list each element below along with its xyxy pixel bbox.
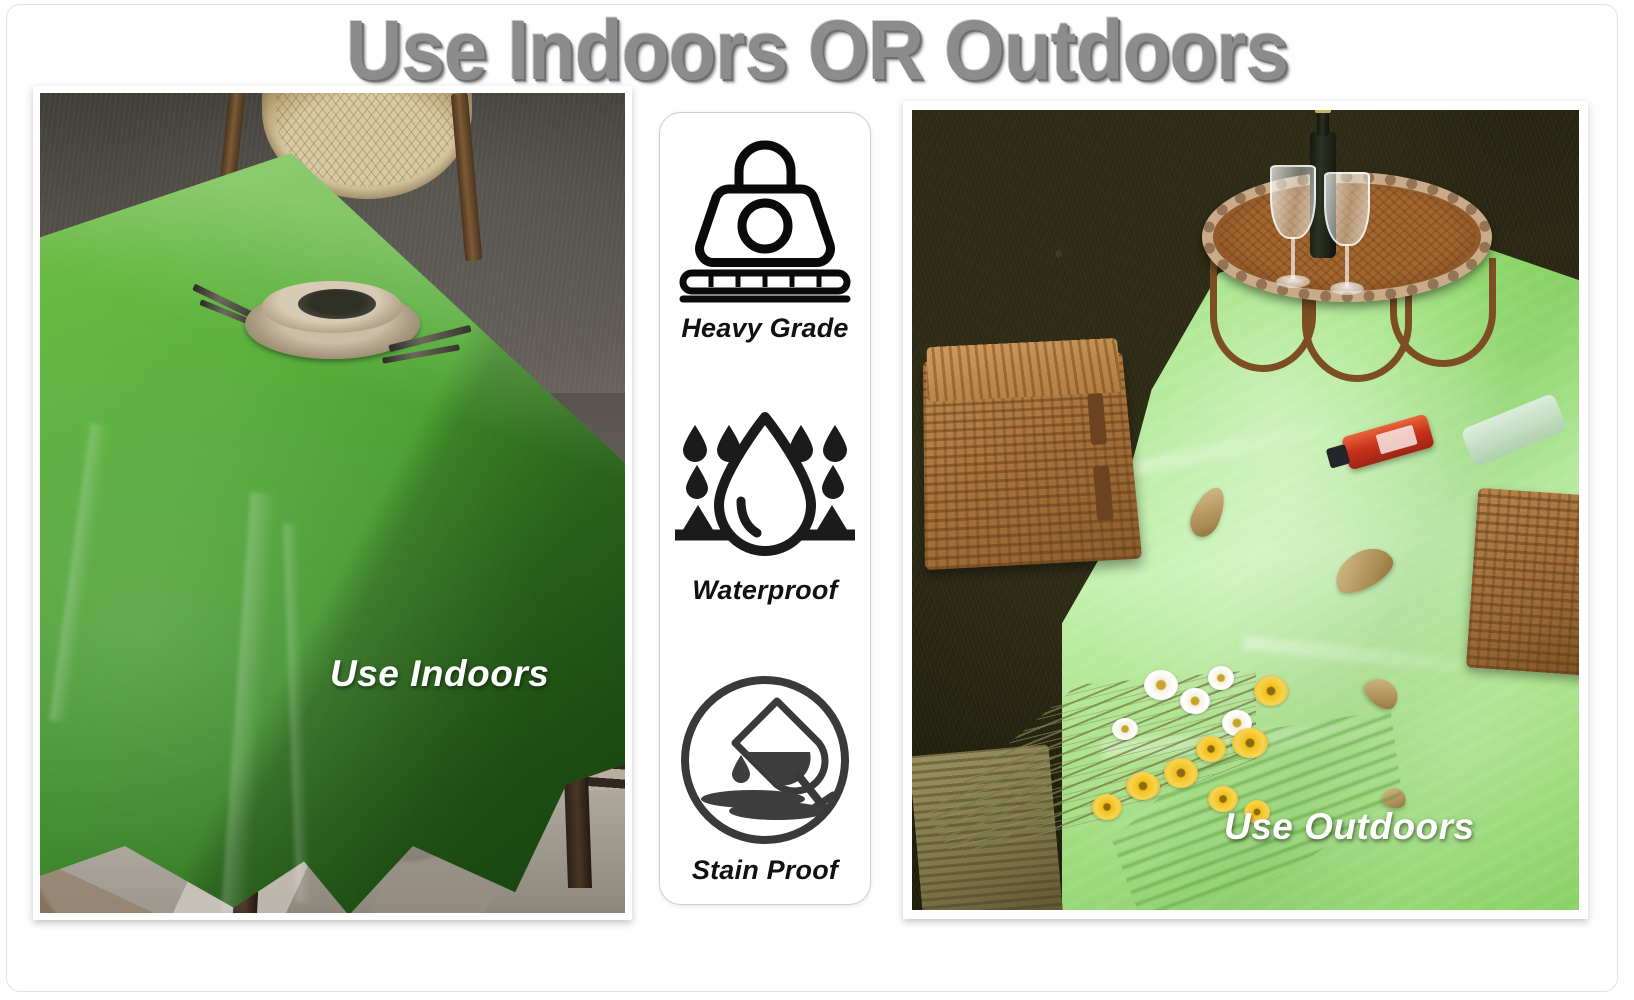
- basket-strap: [1093, 466, 1114, 521]
- glass-bowl: [1324, 172, 1370, 246]
- white-flower: [1180, 688, 1210, 714]
- wicker-basket-right: [1466, 488, 1579, 677]
- glass-stem: [1345, 244, 1349, 286]
- weight-on-scale-icon: [667, 127, 863, 307]
- white-flower: [1112, 718, 1138, 740]
- yellow-flower: [1092, 794, 1122, 820]
- feature-stain-proof: Stain Proof: [660, 671, 870, 886]
- spilled-wine-glass-icon: [667, 671, 863, 849]
- basket-strap: [1087, 393, 1107, 445]
- yellow-flower: [1196, 736, 1226, 762]
- wicker-picnic-basket: [923, 352, 1142, 570]
- glass-foot: [1330, 282, 1364, 295]
- yellow-flower: [1254, 676, 1288, 706]
- feature-waterproof: Waterproof: [660, 409, 870, 606]
- outdoor-caption: Use Outdoors: [1224, 806, 1475, 848]
- indoor-photo: Use Indoors: [40, 93, 625, 913]
- glass-stem: [1291, 237, 1295, 279]
- white-flower: [1144, 670, 1178, 700]
- feature-label-heavy-grade: Heavy Grade: [681, 313, 848, 344]
- white-flower: [1208, 666, 1234, 690]
- infographic-page: Use Indoors OR Outdoors Use Indoors: [0, 0, 1634, 1000]
- water-droplet-icon: [667, 409, 863, 569]
- basket-lid: [927, 338, 1122, 402]
- feature-heavy-grade: Heavy Grade: [660, 127, 870, 344]
- outdoor-photo: Use Outdoors: [912, 110, 1579, 910]
- yellow-flower: [1232, 728, 1268, 758]
- feature-label-stain-proof: Stain Proof: [692, 855, 838, 886]
- page-title: Use Indoors OR Outdoors: [57, 6, 1577, 94]
- plate-garnish: [298, 289, 376, 319]
- yellow-flower: [1126, 772, 1160, 800]
- indoor-caption: Use Indoors: [330, 653, 549, 695]
- feature-badges-panel: Heavy Grade: [659, 112, 871, 905]
- yellow-flower: [1164, 758, 1198, 788]
- feature-label-waterproof: Waterproof: [692, 575, 838, 606]
- glass-foot: [1276, 275, 1310, 288]
- glass-bowl: [1270, 165, 1316, 239]
